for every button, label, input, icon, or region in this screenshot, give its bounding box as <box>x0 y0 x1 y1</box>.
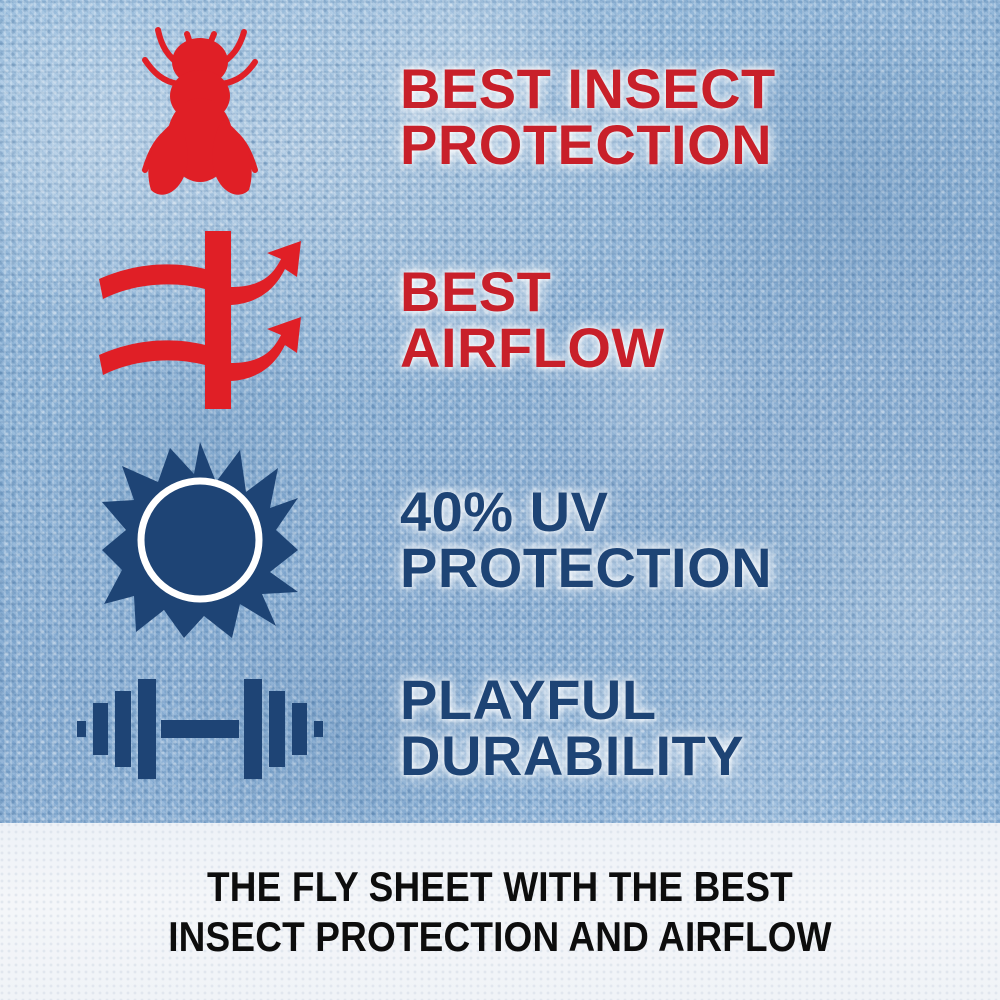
icon-cell-uv <box>0 440 400 640</box>
sun-uv-icon <box>100 440 300 640</box>
product-feature-infographic: BEST INSECT PROTECTION BEST AIRFLOW <box>0 0 1000 1000</box>
text-cell-insect: BEST INSECT PROTECTION <box>400 61 1000 173</box>
text-cell-airflow: BEST AIRFLOW <box>400 264 1000 376</box>
text-cell-uv: 40% UV PROTECTION <box>400 484 1000 596</box>
dumbbell-icon <box>75 663 325 793</box>
feature-row-insect-protection: BEST INSECT PROTECTION <box>0 22 1000 212</box>
icon-cell-airflow <box>0 227 400 412</box>
feature-row-airflow: BEST AIRFLOW <box>0 222 1000 417</box>
feature-row-uv-protection: 40% UV PROTECTION <box>0 432 1000 647</box>
airflow-arrows-icon <box>95 227 305 412</box>
fly-icon <box>125 22 275 212</box>
feature-label-insect-protection: BEST INSECT PROTECTION <box>400 61 976 173</box>
feature-label-durability: PLAYFUL DURABILITY <box>400 672 976 784</box>
text-cell-durability: PLAYFUL DURABILITY <box>400 672 1000 784</box>
feature-label-airflow: BEST AIRFLOW <box>400 264 976 376</box>
caption-panel: THE FLY SHEET WITH THE BEST INSECT PROTE… <box>0 823 1000 1000</box>
icon-cell-durability <box>0 663 400 793</box>
feature-row-durability: PLAYFUL DURABILITY <box>0 648 1000 808</box>
icon-cell-insect <box>0 22 400 212</box>
caption-headline: THE FLY SHEET WITH THE BEST INSECT PROTE… <box>168 862 832 961</box>
feature-label-uv-protection: 40% UV PROTECTION <box>400 484 976 596</box>
